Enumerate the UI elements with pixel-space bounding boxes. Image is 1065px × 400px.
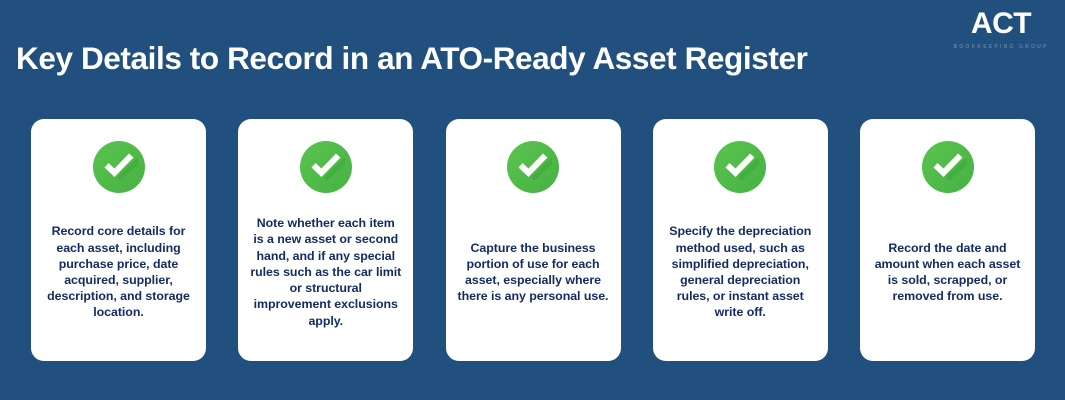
act-bookkeeping-logo: ACT BOOKKEEPING GROUP bbox=[953, 8, 1049, 51]
card-body: Specify the depreciation method used, su… bbox=[665, 197, 816, 347]
info-card: Record core details for each asset, incl… bbox=[31, 119, 206, 361]
info-card: Note whether each item is a new asset or… bbox=[238, 119, 413, 361]
check-circle-icon bbox=[922, 141, 974, 193]
card-text: Record core details for each asset, incl… bbox=[43, 223, 194, 320]
check-circle-icon bbox=[507, 141, 559, 193]
check-circle-icon bbox=[714, 141, 766, 193]
header: Key Details to Record in an ATO-Ready As… bbox=[0, 0, 1065, 110]
info-card: Capture the business portion of use for … bbox=[446, 119, 621, 361]
card-body: Note whether each item is a new asset or… bbox=[250, 197, 401, 347]
card-body: Record core details for each asset, incl… bbox=[43, 197, 194, 347]
page-title: Key Details to Record in an ATO-Ready As… bbox=[16, 36, 807, 80]
card-text: Record the date and amount when each ass… bbox=[872, 240, 1023, 305]
logo-wordmark: ACT bbox=[953, 8, 1049, 40]
check-circle-icon bbox=[300, 141, 352, 193]
card-body: Record the date and amount when each ass… bbox=[872, 197, 1023, 347]
card-text: Specify the depreciation method used, su… bbox=[665, 223, 816, 320]
logo-tagline: BOOKKEEPING GROUP bbox=[953, 43, 1049, 51]
infographic-root: Key Details to Record in an ATO-Ready As… bbox=[0, 0, 1065, 400]
card-text: Note whether each item is a new asset or… bbox=[250, 215, 401, 328]
info-card: Specify the depreciation method used, su… bbox=[653, 119, 828, 361]
info-card: Record the date and amount when each ass… bbox=[860, 119, 1035, 361]
card-row: Record core details for each asset, incl… bbox=[31, 119, 1035, 361]
card-text: Capture the business portion of use for … bbox=[458, 240, 609, 305]
card-body: Capture the business portion of use for … bbox=[458, 197, 609, 347]
check-circle-icon bbox=[93, 141, 145, 193]
